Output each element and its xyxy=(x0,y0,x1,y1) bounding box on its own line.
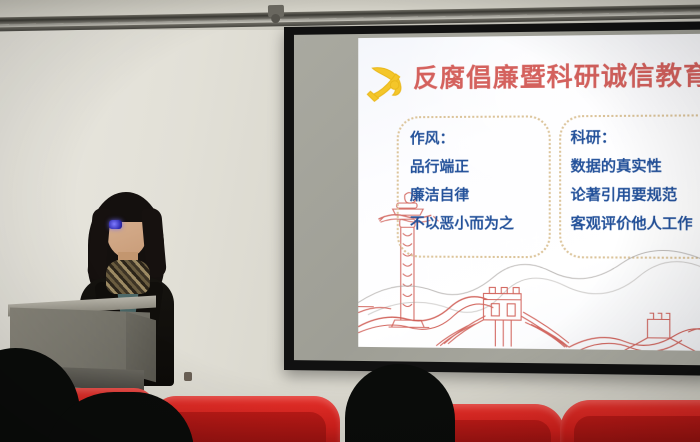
projection-screen-surface: 反腐倡廉暨科研诚信教育 xyxy=(294,30,700,366)
auditorium-seat xyxy=(560,400,700,442)
scarf xyxy=(106,260,150,294)
box-heading: 科研： xyxy=(571,130,700,147)
projection-screen: 反腐倡廉暨科研诚信教育 xyxy=(284,21,700,375)
box-item: 数据的真实性 xyxy=(571,159,700,176)
box-item: 客观评价他人工作 xyxy=(571,216,700,233)
seat-cushion xyxy=(574,416,700,442)
rail-mount-bracket xyxy=(268,5,284,17)
glasses-icon xyxy=(108,220,146,230)
lens-reflection xyxy=(109,220,122,229)
box-item: 论著引用要规范 xyxy=(571,188,700,205)
slide-box-research: 科研： 数据的真实性 论著引用要规范 客观评价他人工作 xyxy=(559,114,700,259)
wall-hook xyxy=(184,372,192,381)
slide-box-work-style: 作风： 品行端正 廉洁自律 不以恶小而为之 xyxy=(397,115,551,258)
party-emblem-hammer-sickle-icon xyxy=(364,60,411,107)
presentation-slide: 反腐倡廉暨科研诚信教育 xyxy=(358,34,700,351)
lecture-hall-photo: 反腐倡廉暨科研诚信教育 xyxy=(0,0,700,442)
box-item: 不以恶小而为之 xyxy=(410,216,545,233)
box-item: 廉洁自律 xyxy=(410,188,545,204)
box-item: 品行端正 xyxy=(410,159,545,176)
slide-title: 反腐倡廉暨科研诚信教育 xyxy=(413,61,700,94)
box-heading: 作风： xyxy=(410,131,545,148)
